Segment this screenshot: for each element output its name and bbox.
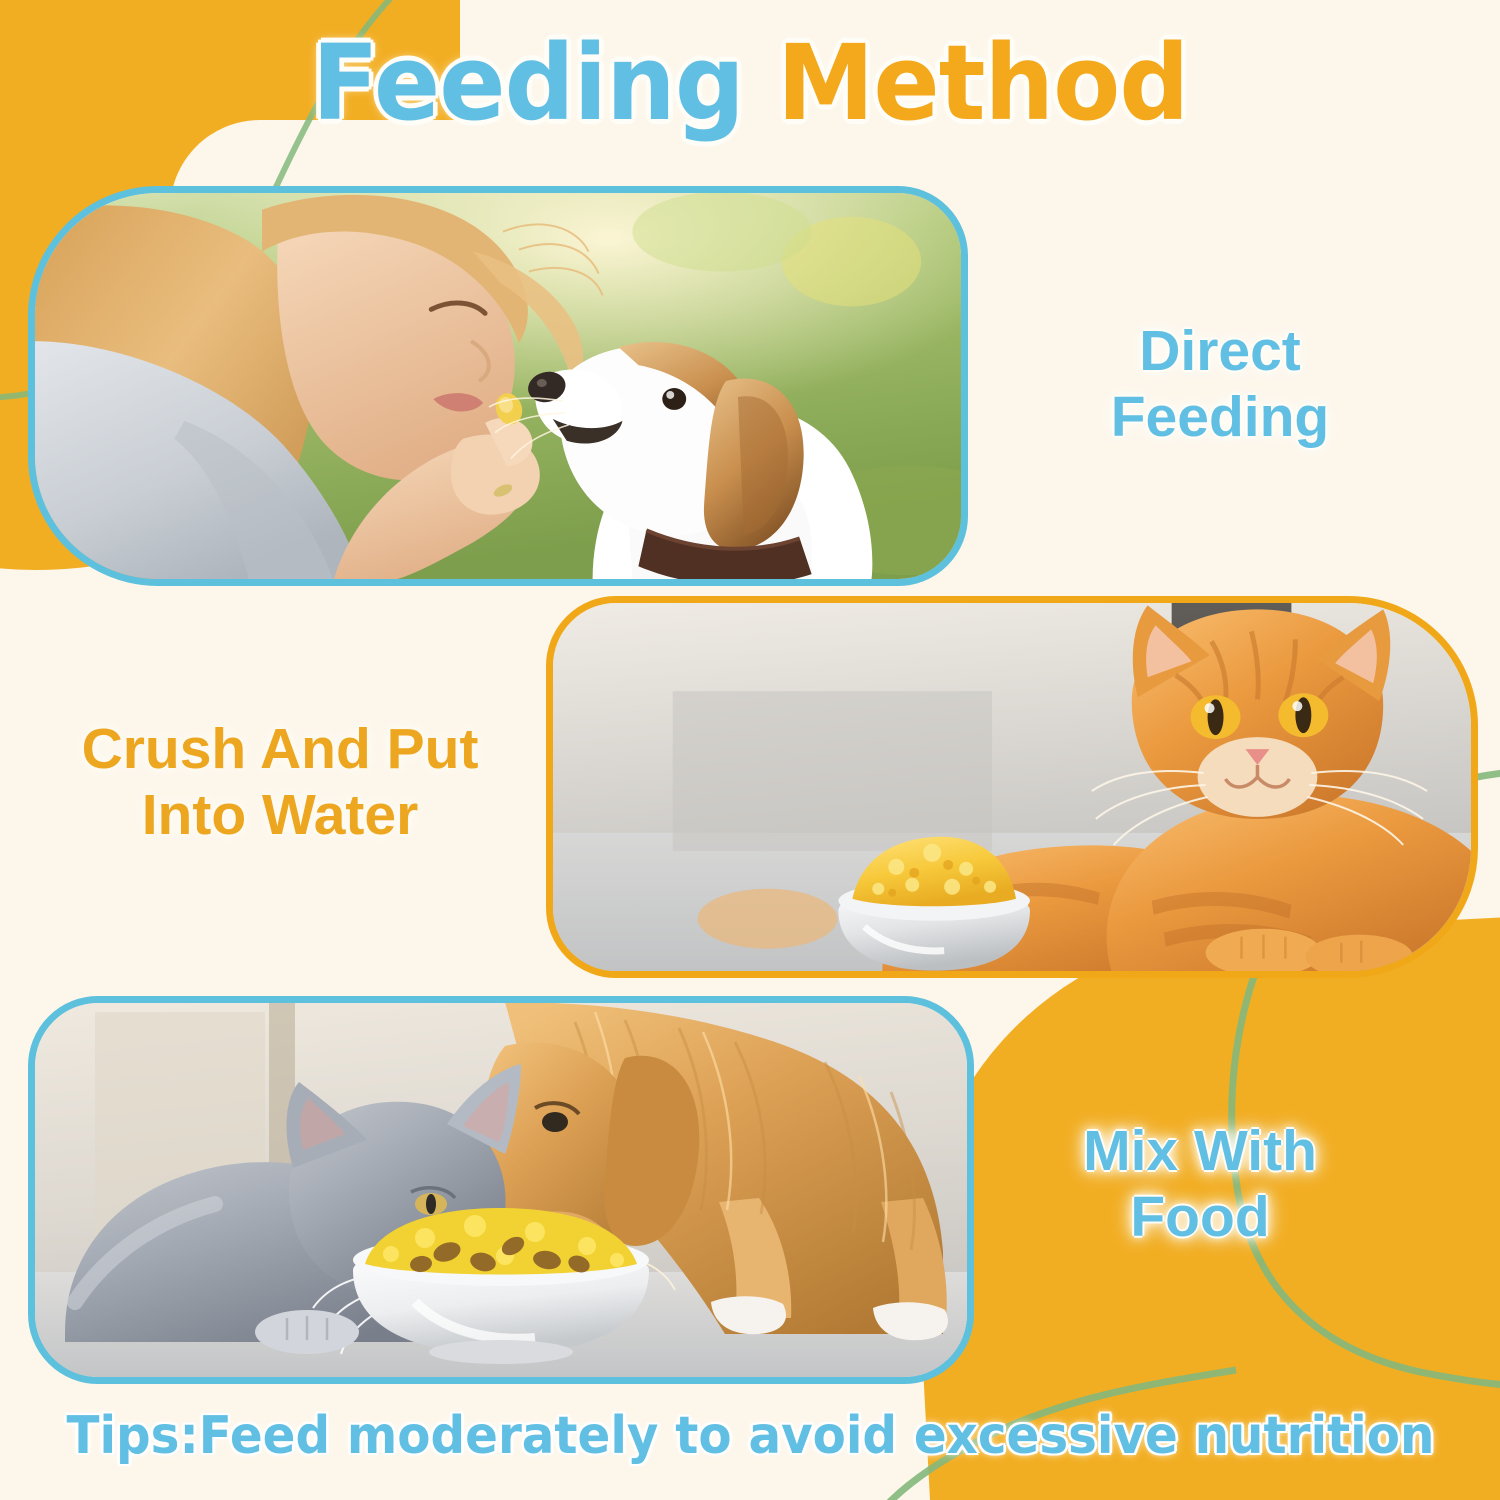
photo-orange-cat-with-powder-bowl [553, 603, 1471, 971]
step-label-line-2: Feeding [1010, 384, 1430, 450]
step-card-mix-with-food [28, 996, 974, 1384]
tips-text: Tips:Feed moderately to avoid excessive … [66, 1406, 1434, 1466]
page-title-part-2: Method [777, 22, 1188, 144]
step-card-direct-feeding [28, 186, 968, 586]
page-title: Feeding Method [0, 28, 1500, 138]
step-label-direct-feeding: Direct Feeding [1010, 318, 1430, 450]
photo-cat-and-dog-sharing-bowl [35, 1003, 967, 1377]
step-card-crush-into-water [546, 596, 1478, 978]
infographic-page: Feeding Method [0, 0, 1500, 1500]
page-title-part-1: Feeding [312, 22, 744, 144]
step-label-crush-into-water: Crush And Put Into Water [30, 716, 530, 848]
step-label-line-2: Food [1000, 1184, 1400, 1250]
step-label-line-1: Direct [1010, 318, 1430, 384]
step-label-line-1: Mix With [1000, 1118, 1400, 1184]
tips-footer: Tips:Feed moderately to avoid excessive … [0, 1406, 1500, 1466]
step-label-line-1: Crush And Put [30, 716, 530, 782]
photo-woman-feeding-puppy [35, 193, 961, 579]
step-label-line-2: Into Water [30, 782, 530, 848]
step-label-mix-with-food: Mix With Food [1000, 1118, 1400, 1250]
